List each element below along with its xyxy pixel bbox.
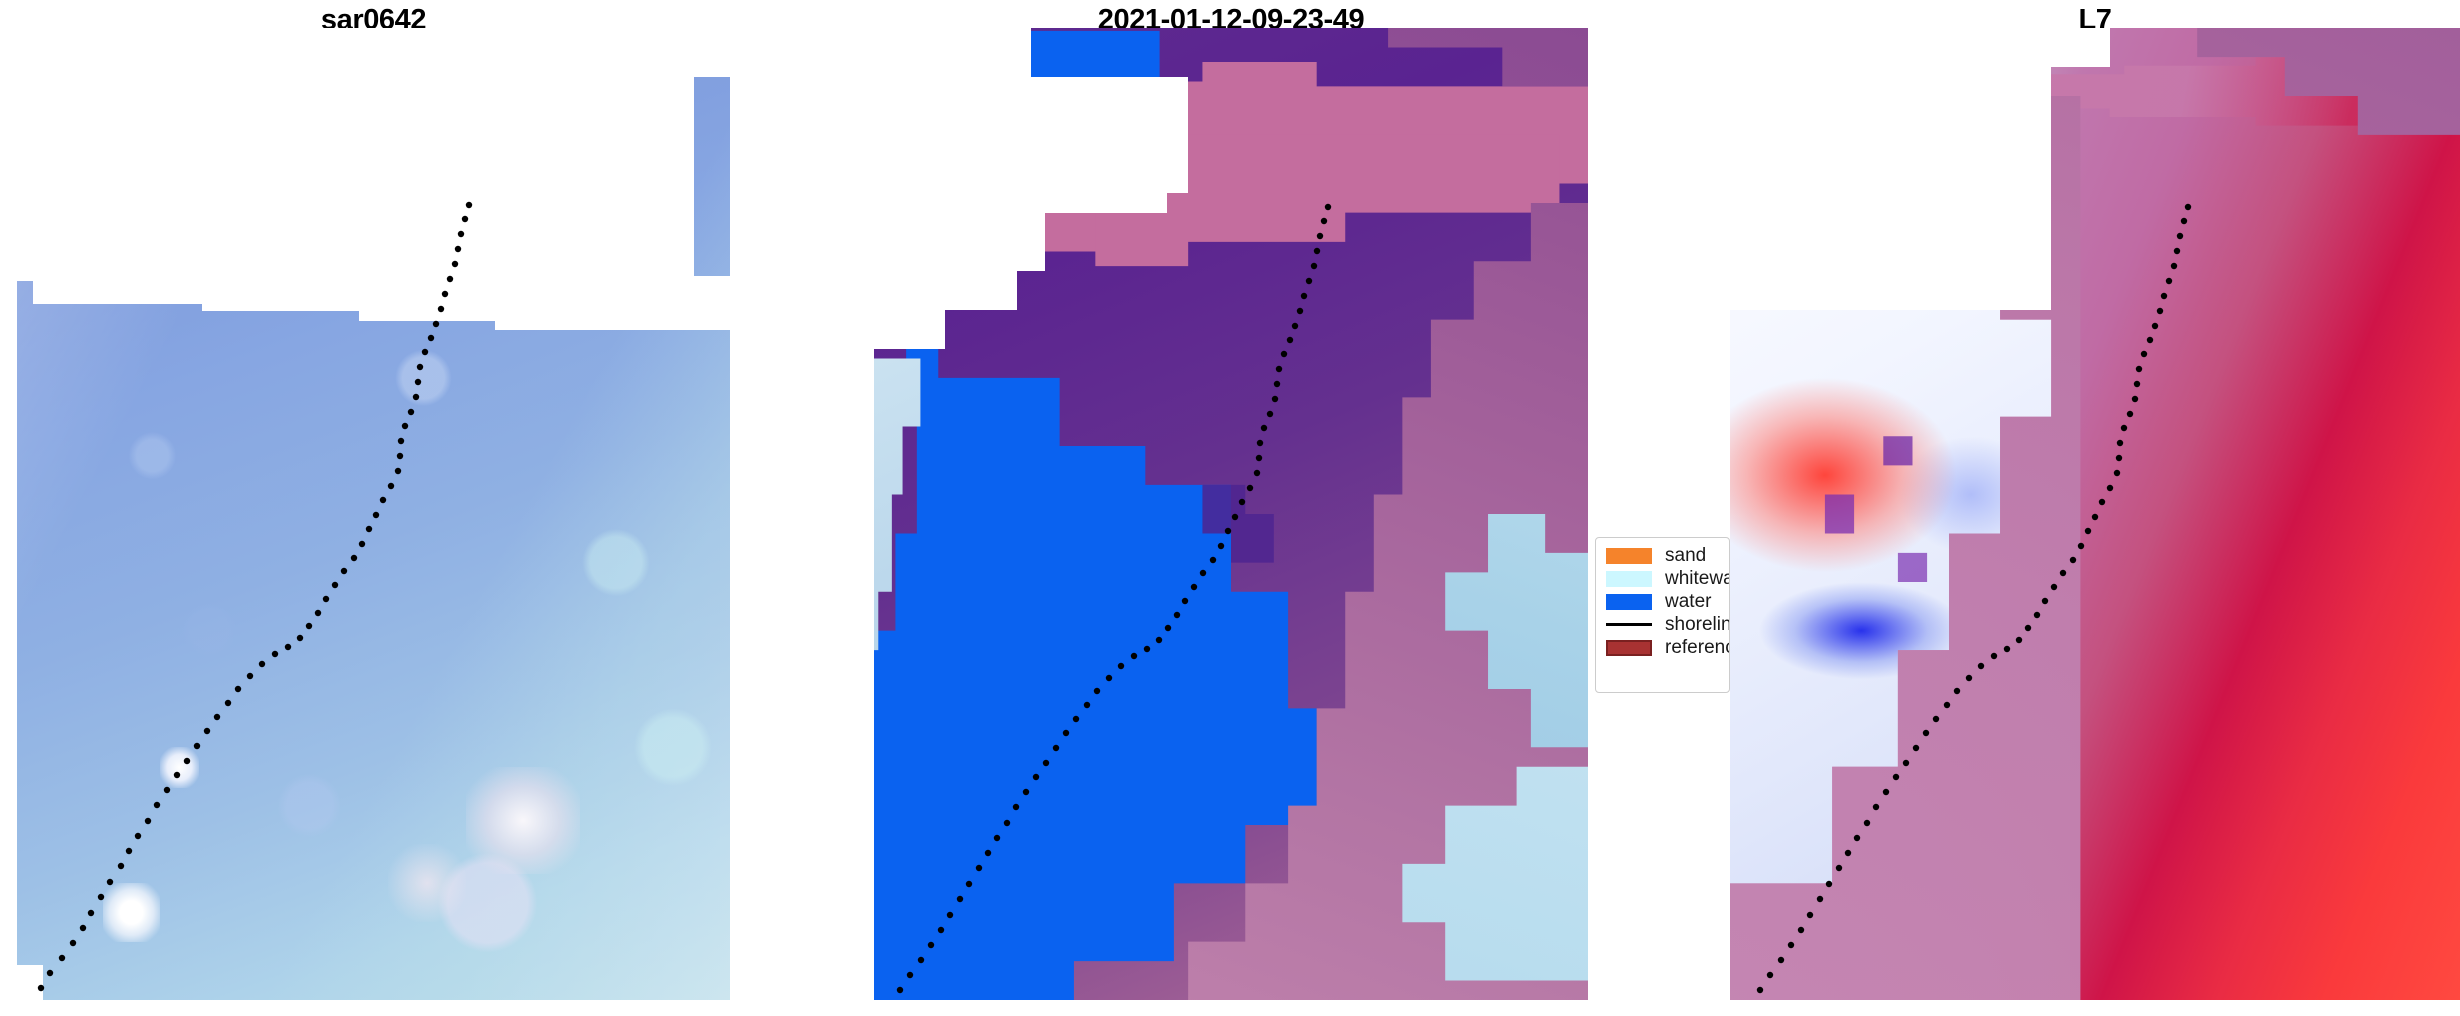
- nodata-mask: [874, 28, 956, 69]
- shoreline-line-swatch: [1606, 623, 1652, 626]
- water-swatch: [1606, 594, 1652, 610]
- nodata-mask: [359, 276, 516, 321]
- legend-label-sand: sand: [1665, 544, 1706, 567]
- nodata-mask: [1010, 77, 1167, 213]
- legend-item-water[interactable]: water: [1596, 590, 1730, 613]
- nodata-mask: [202, 276, 373, 311]
- nodata-mask: [17, 98, 36, 114]
- panel-l7[interactable]: [1730, 28, 2460, 1000]
- whitewater-swatch: [1606, 571, 1652, 587]
- reference-shoreline-swatch: [1606, 640, 1652, 656]
- legend-label-shoreline: shoreline: [1665, 613, 1730, 636]
- nodata-mask: [1730, 28, 2051, 310]
- figure-canvas: sar0642: [0, 0, 2460, 1016]
- nodata-mask: [1145, 77, 1188, 194]
- sar-bright-spot: [466, 767, 580, 874]
- sand-swatch: [1606, 548, 1652, 564]
- legend-label-whitewater: whitewater: [1665, 567, 1730, 590]
- sar-bright-spot: [388, 844, 466, 922]
- legend-item-whitewater[interactable]: whitewater: [1596, 567, 1730, 590]
- legend-label-reference-shoreline: reference shoreline: [1665, 636, 1730, 659]
- nodata-mask: [874, 28, 945, 349]
- legend-item-sand[interactable]: sand: [1596, 544, 1730, 567]
- nodata-mask: [1883, 28, 1956, 57]
- nodata-mask: [1730, 28, 1825, 52]
- panel-classified[interactable]: [874, 28, 1588, 1000]
- legend-label-water: water: [1665, 590, 1711, 613]
- sar-bright-spot: [160, 747, 199, 788]
- sar-bright-spot: [103, 883, 160, 941]
- nodata-mask: [495, 276, 730, 330]
- legend-item-reference-shoreline[interactable]: reference shoreline: [1596, 636, 1730, 659]
- panel-sar[interactable]: [17, 28, 730, 1000]
- nodata-mask: [17, 28, 730, 77]
- legend-box: sand whitewater water shoreline referenc…: [1595, 537, 1730, 693]
- legend-item-shoreline[interactable]: shoreline: [1596, 613, 1730, 636]
- nodata-mask: [17, 965, 43, 1000]
